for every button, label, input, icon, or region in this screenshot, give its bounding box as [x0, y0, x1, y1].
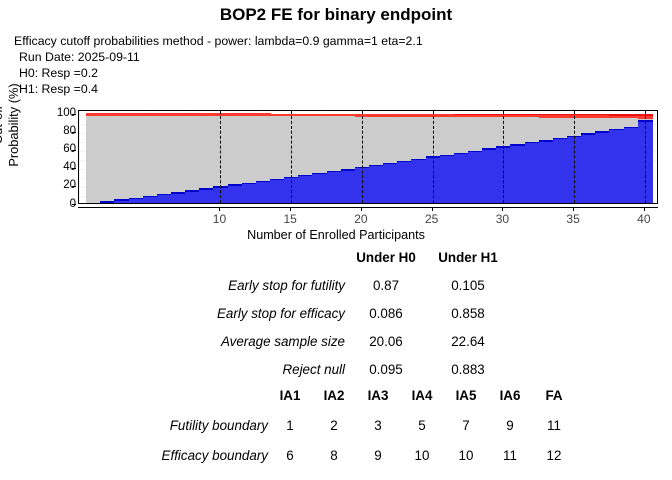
- run-date-line: Run Date: 2025-09-11: [19, 50, 140, 64]
- continue-region-band: [383, 115, 398, 163]
- futility-boundary-line: [327, 171, 342, 173]
- interim-analysis-marker: [433, 111, 434, 203]
- x-axis-tick-mark: [290, 207, 291, 211]
- futility-region-band: [525, 143, 540, 204]
- futility-region-band: [157, 195, 172, 204]
- x-axis-tick-mark: [219, 207, 220, 211]
- table-cell-value: 20.06: [345, 327, 427, 355]
- futility-boundary-line: [143, 196, 158, 198]
- futility-boundary-line: [595, 131, 610, 133]
- interim-analysis-marker: [645, 111, 646, 203]
- interim-analysis-marker: [362, 111, 363, 203]
- method-description-line: Efficacy cutoff probabilities method - p…: [14, 34, 423, 48]
- futility-boundary-line: [129, 198, 144, 200]
- row-label: Early stop for efficacy: [0, 299, 345, 327]
- efficacy-boundary-line: [114, 113, 129, 115]
- table-cell-value: 9: [356, 440, 400, 470]
- table-cell-value: 7: [444, 410, 488, 440]
- efficacy-boundary-line: [595, 115, 610, 117]
- x-axis-tick-label: 15: [270, 212, 310, 226]
- x-axis-title: Number of Enrolled Participants: [0, 228, 672, 242]
- y-axis-title-line2: Probability (%): [6, 83, 21, 166]
- continue-region-band: [468, 116, 483, 151]
- continue-region-band: [411, 116, 426, 160]
- table-cell-value: 11: [488, 440, 532, 470]
- efficacy-boundary-line: [242, 113, 257, 115]
- efficacy-boundary-line: [129, 113, 144, 115]
- futility-boundary-line: [199, 188, 214, 190]
- efficacy-boundary-line: [510, 115, 525, 117]
- continue-region-band: [270, 115, 285, 179]
- futility-boundary-line: [539, 140, 554, 142]
- table-cell-value: 0.858: [427, 299, 509, 327]
- futility-region-band: [454, 153, 469, 204]
- x-axis-tick-label: 35: [553, 212, 593, 226]
- efficacy-boundary-line: [256, 113, 271, 115]
- continue-region-band: [539, 116, 554, 140]
- summary-corner-cell: [0, 243, 345, 271]
- efficacy-boundary-line: [609, 116, 624, 118]
- x-axis-tick-label: 20: [341, 212, 381, 226]
- efficacy-boundary-line: [454, 115, 469, 117]
- futility-region-band: [129, 198, 144, 204]
- futility-boundary-line: [298, 175, 313, 177]
- futility-boundary-line: [440, 155, 455, 157]
- continue-region-band: [341, 115, 356, 170]
- table-cell-value: 0.105: [427, 271, 509, 299]
- futility-region-band: [199, 189, 214, 204]
- table-spacer-cell: [509, 327, 672, 355]
- efficacy-boundary-line: [468, 115, 483, 117]
- column-header-ia1: IA1: [268, 380, 312, 410]
- x-axis-tick-mark: [573, 207, 574, 211]
- futility-boundary-line: [553, 138, 568, 140]
- table-row: Average sample size20.0622.64: [0, 327, 672, 355]
- continue-region-band: [242, 115, 257, 184]
- column-header-ia6: IA6: [488, 380, 532, 410]
- table-row: Efficacy boundary68910101112: [0, 440, 672, 470]
- futility-region-band: [468, 151, 483, 204]
- table-cell-value: 3: [356, 410, 400, 440]
- continue-region-band: [581, 117, 596, 134]
- y-axis-tick-mark: [72, 114, 76, 115]
- continue-region-band: [228, 115, 243, 186]
- y-axis-title: Cut-off Probability (%): [0, 71, 24, 179]
- futility-boundary-line: [482, 148, 497, 150]
- table-cell-value: 5: [400, 410, 444, 440]
- continue-region-band: [397, 115, 412, 161]
- futility-boundary-line: [270, 179, 285, 181]
- efficacy-boundary-line: [411, 114, 426, 116]
- interim-analysis-marker: [291, 111, 292, 203]
- futility-boundary-line: [383, 163, 398, 165]
- futility-boundary-line: [369, 165, 384, 167]
- continue-region-band: [482, 116, 497, 149]
- x-axis-tick-label: 10: [199, 212, 239, 226]
- table-spacer-cell: [576, 440, 672, 470]
- continue-region-band: [595, 117, 610, 132]
- continue-region-band: [185, 115, 200, 191]
- efficacy-boundary-line: [298, 114, 313, 116]
- x-axis-tick-label: 25: [412, 212, 452, 226]
- continue-region-band: [143, 115, 158, 197]
- table-cell-value: 11: [532, 410, 576, 440]
- futility-boundary-line: [341, 169, 356, 171]
- futility-boundary-line: [242, 183, 257, 185]
- y-axis-tick-mark: [72, 204, 76, 205]
- futility-boundary-line: [312, 173, 327, 175]
- table-cell-value: 22.64: [427, 327, 509, 355]
- y-axis-tick-mark: [72, 168, 76, 169]
- x-axis-tick-mark: [432, 207, 433, 211]
- x-axis-line: [78, 207, 658, 208]
- operating-characteristics-table: Under H0 Under H1 Early stop for futilit…: [0, 243, 672, 383]
- efficacy-boundary-line: [440, 114, 455, 116]
- futility-boundary-line: [510, 144, 525, 146]
- efficacy-boundary-line: [397, 114, 412, 116]
- efficacy-boundary-line: [369, 114, 384, 116]
- continue-region-band: [256, 115, 271, 182]
- futility-region-band: [510, 145, 525, 204]
- table-cell-value: 10: [444, 440, 488, 470]
- efficacy-boundary-line: [143, 113, 158, 115]
- summary-spacer-cell: [509, 243, 672, 271]
- continue-region-band: [157, 115, 172, 195]
- futility-boundary-line: [157, 194, 172, 196]
- futility-region-band: [581, 134, 596, 204]
- futility-region-band: [242, 183, 257, 204]
- y-axis: 020406080100: [44, 105, 76, 210]
- table-cell-value: 8: [312, 440, 356, 470]
- futility-region-band: [270, 179, 285, 204]
- efficacy-boundary-line: [100, 113, 115, 115]
- row-label: Efficacy boundary: [0, 440, 268, 470]
- continue-region-band: [114, 115, 129, 200]
- continue-region-band: [100, 115, 115, 202]
- table-cell-value: 0.883: [427, 355, 509, 383]
- efficacy-boundary-line: [312, 114, 327, 116]
- futility-boundary-line: [397, 161, 412, 163]
- row-label: Average sample size: [0, 327, 345, 355]
- table-row: Early stop for efficacy0.0860.858: [0, 299, 672, 327]
- table-spacer-cell: [576, 380, 672, 410]
- efficacy-boundary-line: [482, 115, 497, 117]
- futility-region-band: [185, 191, 200, 204]
- futility-boundary-line: [609, 129, 624, 131]
- row-label: Futility boundary: [0, 410, 268, 440]
- table-cell-value: 9: [488, 410, 532, 440]
- continue-region-band: [171, 115, 186, 193]
- x-axis-tick-label: 30: [482, 212, 522, 226]
- boundary-corner-cell: [0, 380, 268, 410]
- efficacy-boundary-line: [539, 115, 554, 117]
- futility-boundary-line: [256, 181, 271, 183]
- efficacy-boundary-line: [341, 114, 356, 116]
- table-header-row: IA1IA2IA3IA4IA5IA6FA: [0, 380, 672, 410]
- table-row: Reject null0.0950.883: [0, 355, 672, 383]
- futility-boundary-line: [411, 159, 426, 161]
- efficacy-boundary-line: [171, 113, 186, 115]
- futility-region-band: [256, 182, 271, 205]
- continue-region-band: [298, 115, 313, 176]
- y-axis-tick-mark: [72, 132, 76, 133]
- futility-boundary-line: [114, 199, 129, 201]
- table-spacer-cell: [509, 299, 672, 327]
- efficacy-boundary-line: [270, 114, 285, 116]
- futility-boundary-line: [228, 184, 243, 186]
- interim-analysis-marker: [503, 111, 504, 203]
- table-cell-value: 0.095: [345, 355, 427, 383]
- column-header-ia4: IA4: [400, 380, 444, 410]
- futility-region-band: [327, 172, 342, 204]
- futility-region-band: [482, 149, 497, 204]
- y-axis-title-line1: Cut-off: [0, 106, 5, 144]
- futility-boundary-line: [86, 203, 101, 204]
- table-row: Early stop for futility0.870.105: [0, 271, 672, 299]
- futility-region-band: [171, 193, 186, 204]
- efficacy-boundary-line: [86, 113, 101, 115]
- table-cell-value: 12: [532, 440, 576, 470]
- table-row: Futility boundary12357911: [0, 410, 672, 440]
- futility-boundary-line: [454, 153, 469, 155]
- bop2-report-page: BOP2 FE for binary endpoint Efficacy cut…: [0, 0, 672, 480]
- grid-line-vertical: [79, 111, 80, 203]
- column-header-ia5: IA5: [444, 380, 488, 410]
- futility-boundary-line: [100, 201, 115, 203]
- table-cell-value: 0.086: [345, 299, 427, 327]
- futility-region-band: [440, 155, 455, 204]
- efficacy-boundary-line: [624, 116, 639, 118]
- efficacy-boundary-line: [228, 113, 243, 115]
- column-header-ia2: IA2: [312, 380, 356, 410]
- continue-region-band: [609, 117, 624, 130]
- futility-region-band: [298, 176, 313, 204]
- futility-region-band: [312, 173, 327, 204]
- table-spacer-cell: [576, 410, 672, 440]
- efficacy-boundary-line: [383, 114, 398, 116]
- h0-response-line: H0: Resp =0.2: [19, 66, 98, 80]
- row-label: Reject null: [0, 355, 345, 383]
- continue-region-band: [312, 115, 327, 173]
- interim-analysis-marker: [220, 111, 221, 203]
- y-axis-tick-mark: [72, 150, 76, 151]
- cutoff-probability-plot: [78, 110, 658, 204]
- continue-region-band: [86, 115, 101, 204]
- table-spacer-cell: [509, 355, 672, 383]
- continue-region-band: [525, 116, 540, 142]
- futility-region-band: [143, 196, 158, 204]
- h1-response-line: H1: Resp =0.4: [19, 82, 98, 96]
- futility-boundary-line: [624, 127, 639, 129]
- futility-region-band: [341, 170, 356, 204]
- x-axis-tick-mark: [644, 207, 645, 211]
- futility-region-band: [397, 162, 412, 204]
- table-cell-value: 6: [268, 440, 312, 470]
- efficacy-boundary-line: [553, 115, 568, 117]
- futility-region-band: [539, 141, 554, 204]
- futility-boundary-line: [581, 133, 596, 135]
- y-axis-tick-mark: [72, 186, 76, 187]
- continue-region-band: [129, 115, 144, 199]
- table-cell-value: 1: [268, 410, 312, 440]
- futility-region-band: [369, 165, 384, 204]
- futility-region-band: [624, 127, 639, 204]
- interim-analysis-marker: [574, 111, 575, 203]
- continue-region-band: [510, 116, 525, 145]
- efficacy-boundary-line: [157, 113, 172, 115]
- x-axis-tick-mark: [502, 207, 503, 211]
- x-axis-tick-label: 40: [624, 212, 664, 226]
- table-header-row: Under H0 Under H1: [0, 243, 672, 271]
- efficacy-boundary-line: [199, 113, 214, 115]
- futility-boundary-line: [468, 151, 483, 153]
- efficacy-boundary-line: [327, 114, 342, 116]
- page-title: BOP2 FE for binary endpoint: [0, 5, 672, 25]
- futility-boundary-line: [525, 142, 540, 144]
- futility-region-band: [609, 130, 624, 204]
- continue-region-band: [553, 116, 568, 138]
- efficacy-boundary-line: [185, 113, 200, 115]
- continue-region-band: [327, 115, 342, 171]
- continue-region-band: [454, 116, 469, 154]
- efficacy-boundary-line: [581, 115, 596, 117]
- efficacy-boundary-line: [525, 115, 540, 117]
- table-cell-value: 10: [400, 440, 444, 470]
- futility-boundary-line: [171, 192, 186, 194]
- table-cell-value: 0.87: [345, 271, 427, 299]
- decision-boundary-table: IA1IA2IA3IA4IA5IA6FA Futility boundary12…: [0, 380, 672, 470]
- futility-region-band: [411, 159, 426, 204]
- column-header-fa: FA: [532, 380, 576, 410]
- futility-region-band: [383, 163, 398, 204]
- column-header-under-h1: Under H1: [427, 243, 509, 271]
- column-header-ia3: IA3: [356, 380, 400, 410]
- futility-region-band: [228, 185, 243, 204]
- row-label: Early stop for futility: [0, 271, 345, 299]
- table-spacer-cell: [509, 271, 672, 299]
- table-cell-value: 2: [312, 410, 356, 440]
- futility-region-band: [553, 139, 568, 204]
- column-header-under-h0: Under H0: [345, 243, 427, 271]
- x-axis-tick-mark: [361, 207, 362, 211]
- futility-region-band: [595, 132, 610, 204]
- continue-region-band: [440, 116, 455, 156]
- continue-region-band: [369, 115, 384, 165]
- continue-region-band: [199, 115, 214, 190]
- futility-boundary-line: [185, 190, 200, 192]
